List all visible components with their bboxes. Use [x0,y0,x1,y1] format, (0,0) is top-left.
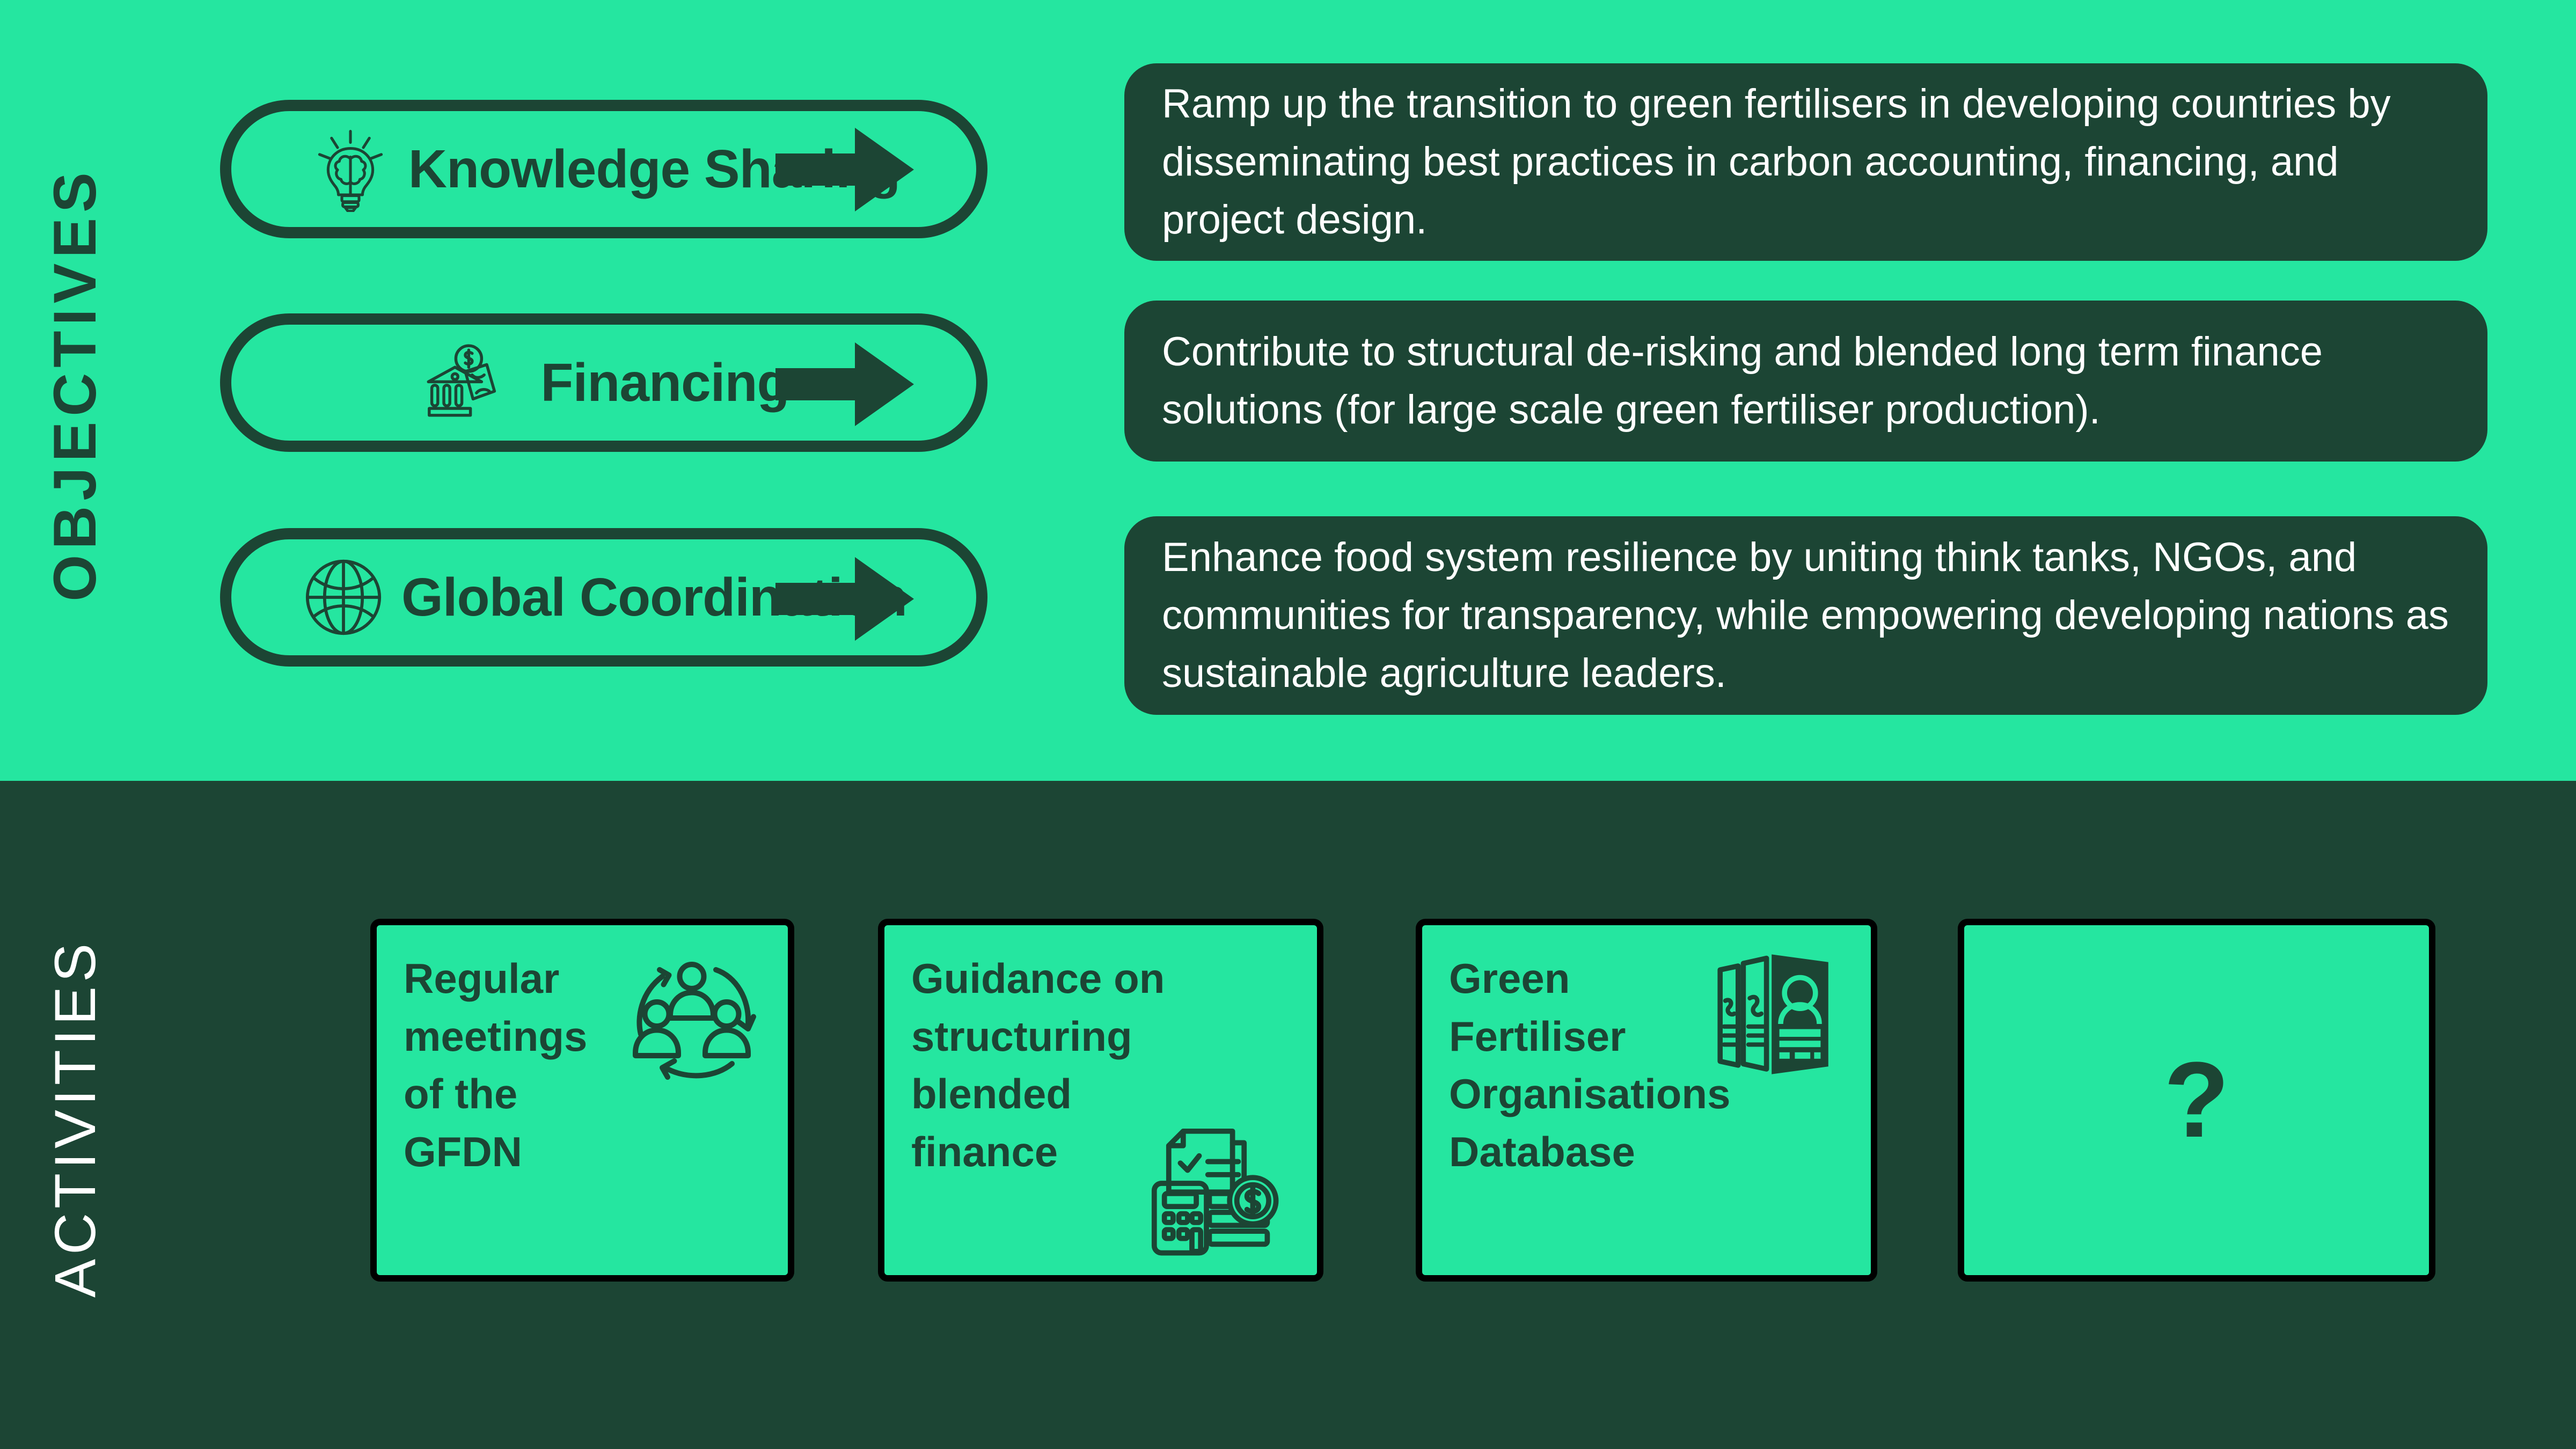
activity-card-regular-meetings[interactable]: Regular meetings of the GFDN [370,919,794,1282]
contact-cards-icon [1699,947,1849,1075]
activity-card-title: Regular meetings of the GFDN [404,950,626,1181]
people-cycle-icon [619,951,764,1085]
activity-card-organisations-database[interactable]: Green Fertiliser Organisations Database [1416,919,1877,1282]
activity-card-placeholder[interactable]: ? [1958,919,2435,1282]
objective-description-text: Contribute to structural de-risking and … [1162,323,2450,439]
activity-card-title: Guidance on structuring blended finance [911,950,1170,1181]
bank-money-icon [418,340,504,426]
arrow-right-icon [775,121,914,218]
objective-description-text: Enhance food system resilience by unitin… [1162,529,2450,702]
objective-description-panel: Enhance food system resilience by unitin… [1124,516,2487,715]
objective-description-panel: Contribute to structural de-risking and … [1124,301,2487,462]
activities-section-label: ACTIVITIES [46,914,104,1322]
infographic-canvas: OBJECTIVES [0,0,2576,1449]
activity-card-title: Green Fertiliser Organisations Database [1449,950,1719,1181]
lightbulb-brain-icon [308,126,393,212]
arrow-right-icon [775,551,914,647]
objective-description-panel: Ramp up the transition to green fertilis… [1124,63,2487,261]
objective-title: Financing [540,352,789,414]
globe-icon [301,554,386,640]
objective-description-text: Ramp up the transition to green fertilis… [1162,75,2450,249]
question-mark-icon: ? [1964,925,2429,1275]
arrow-right-icon [775,336,914,433]
objectives-section-label: OBJECTIVES [45,143,105,626]
objectives-section: OBJECTIVES [0,0,2576,781]
activity-card-blended-finance[interactable]: Guidance on structuring blended finance [878,919,1323,1282]
